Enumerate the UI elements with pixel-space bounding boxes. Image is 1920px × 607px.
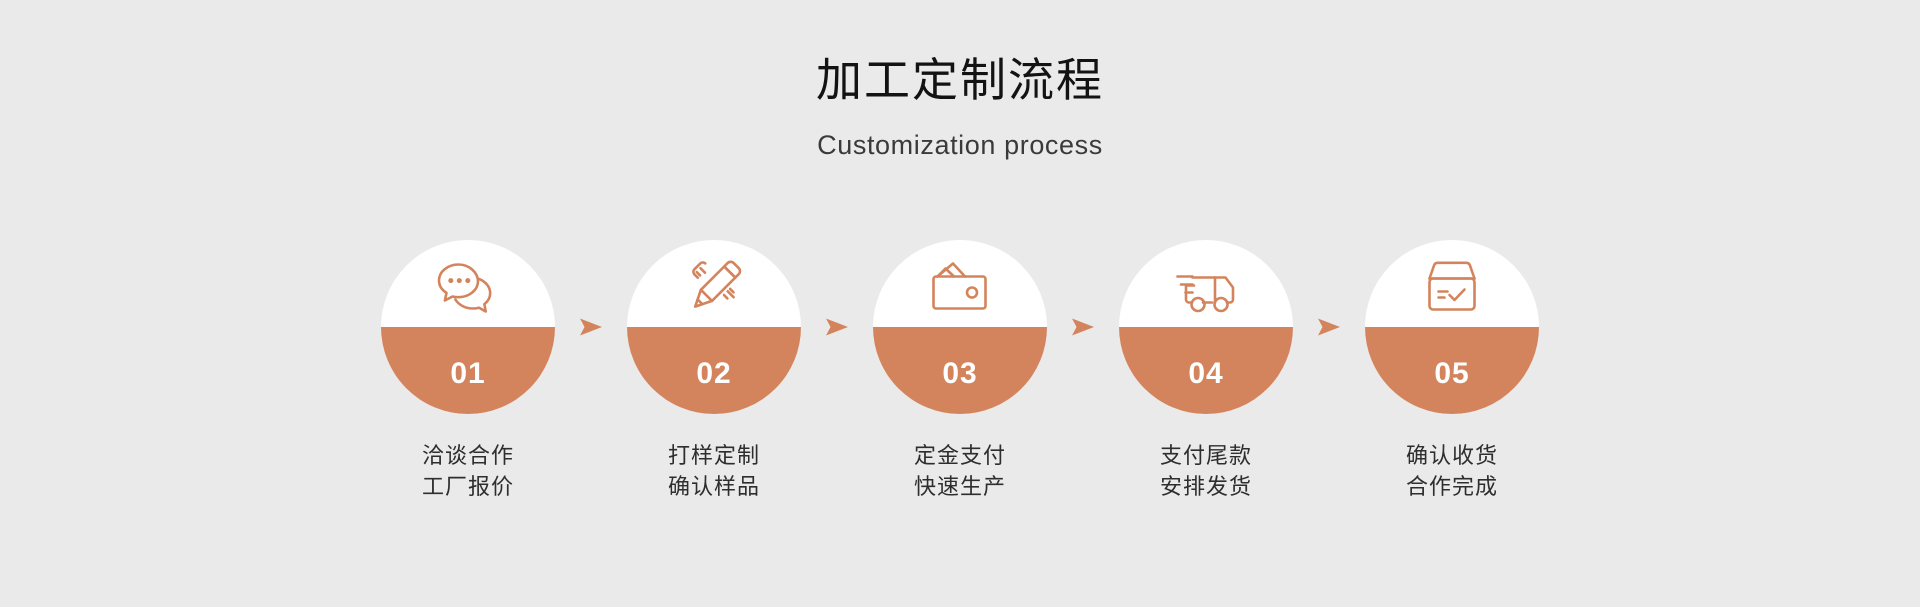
step-label-line-2: 快速生产 <box>914 471 1006 502</box>
step-label-line-2: 合作完成 <box>1406 471 1498 502</box>
box-check-icon <box>1365 248 1539 327</box>
arrow-right-icon <box>815 240 859 414</box>
step-circle: 02 <box>627 240 801 414</box>
page-subtitle: Customization process <box>0 128 1920 162</box>
process-step-03[interactable]: 03 定金支付 快速生产 <box>859 240 1061 502</box>
step-label-line-2: 工厂报价 <box>422 471 514 502</box>
process-steps: 01 洽谈合作 工厂报价 <box>0 240 1920 502</box>
customization-process-banner: 加工定制流程 Customization process 01 <box>0 0 1920 607</box>
step-label-line-2: 确认样品 <box>668 471 760 502</box>
step-label: 定金支付 快速生产 <box>914 440 1006 502</box>
step-circle: 01 <box>381 240 555 414</box>
step-label-line-1: 洽谈合作 <box>422 440 514 471</box>
step-label: 打样定制 确认样品 <box>668 440 760 502</box>
step-number: 04 <box>1119 327 1293 414</box>
step-label-line-1: 确认收货 <box>1406 440 1498 471</box>
pencil-ruler-icon <box>627 248 801 327</box>
process-step-05[interactable]: 05 确认收货 合作完成 <box>1351 240 1553 502</box>
arrow-right-icon <box>569 240 613 414</box>
step-number: 02 <box>627 327 801 414</box>
step-number: 05 <box>1365 327 1539 414</box>
step-circle: 05 <box>1365 240 1539 414</box>
arrow-right-icon <box>1307 240 1351 414</box>
delivery-truck-icon <box>1119 248 1293 327</box>
page-title: 加工定制流程 <box>0 52 1920 108</box>
step-label-line-1: 定金支付 <box>914 440 1006 471</box>
header: 加工定制流程 Customization process <box>0 52 1920 162</box>
step-label: 洽谈合作 工厂报价 <box>422 440 514 502</box>
step-label: 确认收货 合作完成 <box>1406 440 1498 502</box>
step-label-line-2: 安排发货 <box>1160 471 1252 502</box>
step-number: 01 <box>381 327 555 414</box>
process-step-01[interactable]: 01 洽谈合作 工厂报价 <box>367 240 569 502</box>
arrow-right-icon <box>1061 240 1105 414</box>
step-number: 03 <box>873 327 1047 414</box>
step-circle: 04 <box>1119 240 1293 414</box>
wallet-icon <box>873 248 1047 327</box>
step-label-line-1: 支付尾款 <box>1160 440 1252 471</box>
process-step-02[interactable]: 02 打样定制 确认样品 <box>613 240 815 502</box>
process-step-04[interactable]: 04 支付尾款 安排发货 <box>1105 240 1307 502</box>
step-label: 支付尾款 安排发货 <box>1160 440 1252 502</box>
step-label-line-1: 打样定制 <box>668 440 760 471</box>
chat-bubbles-icon <box>381 248 555 327</box>
step-circle: 03 <box>873 240 1047 414</box>
